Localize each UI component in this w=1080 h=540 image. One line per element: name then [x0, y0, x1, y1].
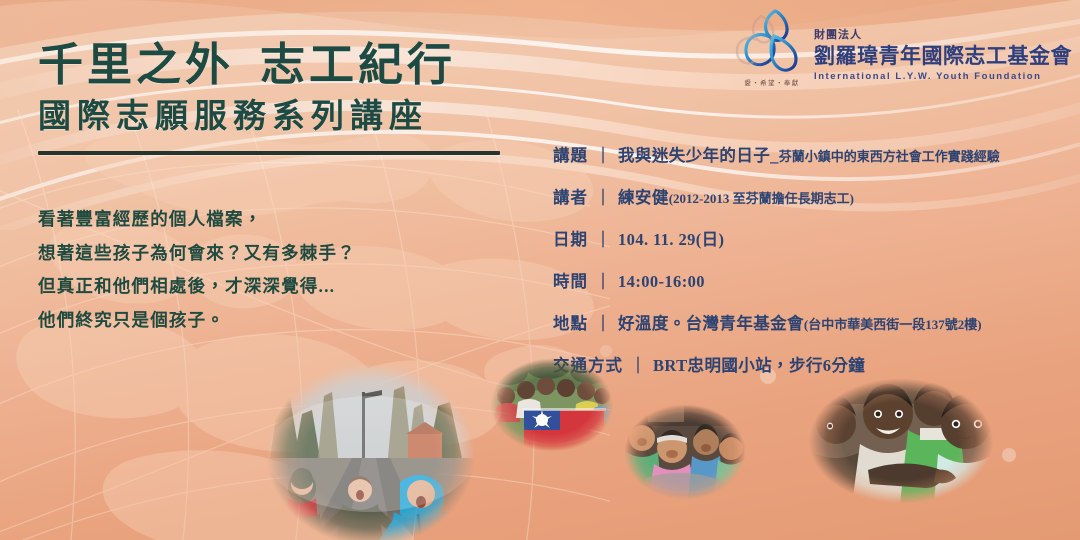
logo-mark-container: 愛‧希望‧奉獻: [734, 6, 810, 90]
info-value: 14:00-16:00: [618, 272, 705, 292]
info-label: 日期: [553, 226, 588, 250]
info-value-detail: (台中市華美西街一段137號2樓): [804, 317, 982, 332]
bokeh-dot: [1002, 448, 1016, 462]
info-row-time: 時間 ｜ 14:00-16:00: [553, 268, 1073, 292]
info-row-venue: 地點 ｜ 好溫度。台灣青年基金會(台中市華美西街一段137號2樓): [553, 310, 1073, 334]
info-value-main: 14:00-16:00: [618, 272, 705, 291]
logo-text-block: 財團法人 劉羅瑋青年國際志工基金會 International L.Y.W. Y…: [810, 6, 1072, 82]
info-separator: ｜: [623, 352, 653, 376]
info-value-main: 好溫度。台灣青年基金會: [618, 314, 804, 333]
info-value-main: BRT忠明國小站，步行6分鐘: [653, 356, 865, 375]
poster-title-main: 千里之外志工紀行: [38, 40, 558, 90]
photo-finland-road: [266, 362, 476, 540]
title-part-two: 志工紀行: [260, 40, 456, 90]
info-value: 練安健(2012-2013 至芬蘭擔任長期志工): [618, 184, 854, 208]
info-value: 好溫度。台灣青年基金會(台中市華美西街一段137號2樓): [618, 310, 982, 334]
info-value: 我與迷失少年的日子_芬蘭小鎮中的東西方社會工作實踐經驗: [618, 142, 1000, 166]
info-row-date: 日期 ｜ 104. 11. 29(日): [553, 226, 1073, 250]
foundation-logo: 愛‧希望‧奉獻 財團法人 劉羅瑋青年國際志工基金會 International …: [734, 6, 1072, 90]
title-divider-rule: [38, 151, 500, 155]
info-value-main: 練安健: [618, 188, 669, 207]
poem-line: 看著豐富經歷的個人檔案，: [38, 203, 508, 237]
title-part-one: 千里之外: [38, 40, 234, 90]
info-label: 講題: [553, 142, 588, 166]
info-separator: ｜: [588, 142, 618, 166]
logo-tagline: 愛‧希望‧奉獻: [734, 77, 810, 87]
info-separator: ｜: [588, 310, 618, 334]
info-value-main: 104. 11. 29(日): [618, 230, 724, 249]
logo-corp-type: 財團法人: [814, 26, 1072, 42]
info-value-main: 我與迷失少年的日子_: [618, 146, 779, 165]
info-value: 104. 11. 29(日): [618, 226, 724, 250]
logo-name-zh: 劉羅瑋青年國際志工基金會: [814, 45, 1072, 68]
poem-line: 他們終究只是個孩子。: [38, 304, 508, 338]
event-info-block: 講題 ｜ 我與迷失少年的日子_芬蘭小鎮中的東西方社會工作實踐經驗 講者 ｜ 練安…: [553, 142, 1073, 376]
info-separator: ｜: [588, 268, 618, 292]
photo-children-hug: [808, 378, 994, 504]
poem-block: 看著豐富經歷的個人檔案， 想著這些孩子為何會來？又有多棘手？ 但真正和他們相處後…: [38, 203, 508, 337]
info-value-detail: 芬蘭小鎮中的東西方社會工作實踐經驗: [779, 149, 1000, 164]
info-separator: ｜: [588, 226, 618, 250]
poster-canvas: 千里之外志工紀行 國際志願服務系列講座 看著豐富經歷的個人檔案， 想著這些孩子為…: [0, 0, 1080, 540]
logo-name-en: International L.Y.W. Youth Foundation: [814, 71, 1072, 82]
ribbon-loop-icon: [734, 6, 810, 76]
poem-line: 想著這些孩子為何會來？又有多棘手？: [38, 237, 508, 271]
info-row-transport: 交通方式 ｜ BRT忠明國小站，步行6分鐘: [553, 352, 1073, 376]
info-label: 地點: [553, 310, 588, 334]
photo-children-indoor: [624, 404, 746, 500]
info-label: 時間: [553, 268, 588, 292]
info-value: BRT忠明國小站，步行6分鐘: [653, 352, 865, 376]
poster-title-sub: 國際志願服務系列講座: [38, 99, 558, 137]
poem-line: 但真正和他們相處後，才深深覺得...: [38, 270, 508, 304]
info-label: 講者: [553, 184, 588, 208]
info-value-detail: (2012-2013 至芬蘭擔任長期志工): [669, 191, 854, 206]
photo-taiwan-flag-group: [490, 358, 614, 452]
info-row-speaker: 講者 ｜ 練安健(2012-2013 至芬蘭擔任長期志工): [553, 184, 1073, 208]
info-separator: ｜: [588, 184, 618, 208]
info-row-topic: 講題 ｜ 我與迷失少年的日子_芬蘭小鎮中的東西方社會工作實踐經驗: [553, 142, 1073, 166]
title-block: 千里之外志工紀行 國際志願服務系列講座: [38, 40, 558, 155]
